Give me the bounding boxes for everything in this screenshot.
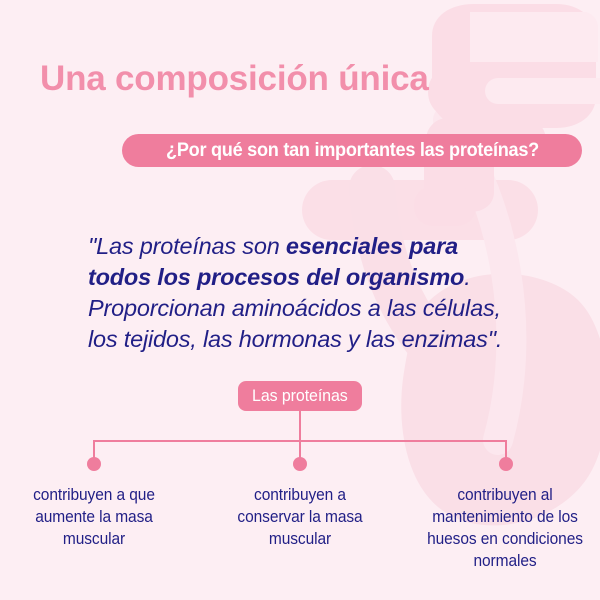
branch-caption-2: contribuyen a conservar la masa muscular [225,485,375,551]
diagram-root-label: Las proteínas [252,386,348,406]
branch-endpoint-dot-2 [293,457,307,471]
infographic-canvas: Una composición única ¿Por qué son tan i… [0,0,600,600]
branch-caption-3: contribuyen al mantenimiento de los hues… [420,485,589,573]
connector-stem [299,411,301,441]
branch-endpoint-dot-3 [499,457,513,471]
protein-quote: "Las proteínas son esenciales para todos… [88,231,508,355]
question-banner: ¿Por qué son tan importantes las proteín… [122,134,582,167]
branch-endpoint-dot-1 [87,457,101,471]
question-banner-label: ¿Por qué son tan importantes las proteín… [166,139,539,162]
diagram-root-node: Las proteínas [238,381,362,411]
page-title: Una composición única [40,59,429,99]
branch-caption-1: contribuyen a que aumente la masa muscul… [19,485,169,551]
quote-segment-lead: "Las proteínas son [88,233,286,259]
